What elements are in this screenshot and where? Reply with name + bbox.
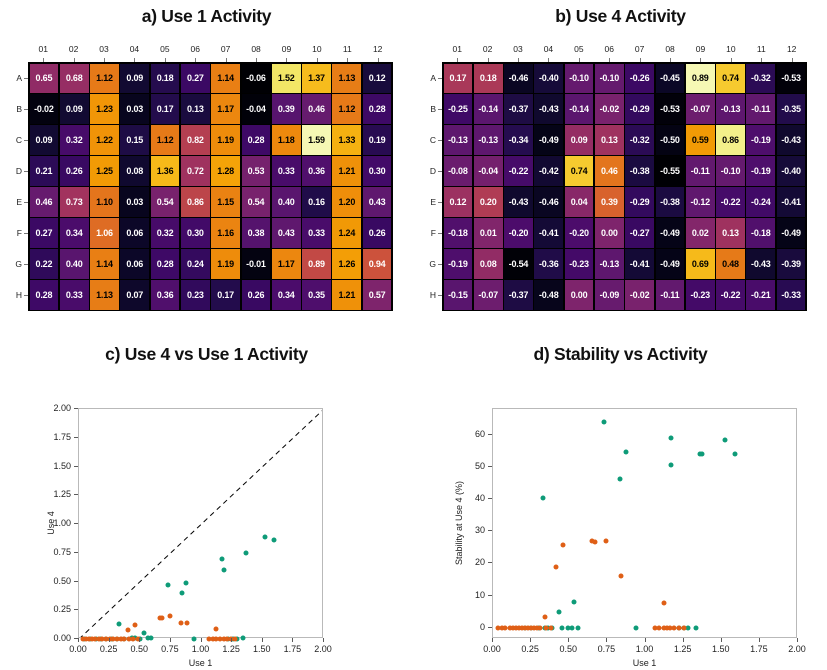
heatmap-cell: 1.21 — [332, 156, 361, 185]
heatmap-cell: 0.04 — [565, 187, 594, 216]
heatmap-row-label: E — [6, 187, 28, 218]
heatmap-cell: -0.41 — [777, 187, 806, 216]
heatmap-column-label: 08 — [241, 44, 271, 58]
heatmap-cell: 1.23 — [90, 94, 119, 123]
y-axis-tick-label: 40 — [475, 493, 485, 503]
heatmap-row-label: G — [420, 249, 442, 280]
x-axis-tick-label: 0.25 — [100, 644, 118, 654]
heatmap-cell: -0.14 — [474, 94, 503, 123]
heatmap-cell: -0.46 — [504, 64, 533, 93]
y-axis-tick — [488, 562, 492, 563]
heatmap-cell: 1.22 — [90, 125, 119, 154]
panel-c: c) Use 4 vs Use 1 Activity 0.000.250.500… — [0, 330, 413, 670]
y-axis-tick-label: 0.25 — [53, 604, 71, 614]
heatmap-cell: 0.57 — [363, 280, 392, 309]
scatter-point — [617, 477, 622, 482]
scatter-point — [722, 437, 727, 442]
heatmap-column-label: 09 — [271, 44, 301, 58]
x-axis-tick — [292, 638, 293, 642]
x-axis-tick-label: 1.50 — [253, 644, 271, 654]
heatmap-cell: 0.09 — [60, 94, 89, 123]
heatmap-cell: -0.41 — [534, 218, 563, 247]
heatmap-cell: -0.55 — [656, 156, 685, 185]
heatmap-cell: -0.36 — [534, 249, 563, 278]
heatmap-cell: -0.43 — [504, 187, 533, 216]
heatmap-row-label: B — [6, 93, 28, 124]
heatmap-cell: -0.37 — [504, 94, 533, 123]
heatmap-cell: -0.10 — [565, 64, 594, 93]
heatmap-cell: 0.13 — [716, 218, 745, 247]
heatmap-cell: -0.02 — [625, 280, 654, 309]
heatmap-column-label: 02 — [58, 44, 88, 58]
heatmap-cell: 0.86 — [716, 125, 745, 154]
heatmap-cell: 0.27 — [30, 218, 59, 247]
heatmap-cell: -0.18 — [746, 218, 775, 247]
heatmap-cell: -0.20 — [504, 218, 533, 247]
heatmap-cell: -0.23 — [565, 249, 594, 278]
heatmap-grid: 0.170.18-0.46-0.40-0.10-0.10-0.26-0.450.… — [442, 62, 807, 311]
heatmap-cell: -0.21 — [746, 280, 775, 309]
heatmap-cell: 1.20 — [332, 187, 361, 216]
heatmap-cell: -0.43 — [777, 125, 806, 154]
heatmap-cell: 0.18 — [151, 64, 180, 93]
scatter-point — [669, 436, 674, 441]
x-axis-tick — [231, 638, 232, 642]
heatmap-cell: 0.06 — [120, 218, 149, 247]
x-axis-tick-label: 0.75 — [161, 644, 179, 654]
heatmap-row-labels: ABCDEFGH — [6, 62, 28, 311]
scatter-point — [192, 636, 197, 641]
heatmap-cell: 0.28 — [151, 249, 180, 278]
identity-reference-line — [79, 409, 322, 637]
heatmap-cell: 0.06 — [120, 249, 149, 278]
y-axis-tick-label: 60 — [475, 429, 485, 439]
scatter-point — [603, 538, 608, 543]
heatmap-column-label: 07 — [210, 44, 240, 58]
x-axis-tick-label: 0.25 — [521, 644, 539, 654]
x-axis-tick-label: 1.25 — [222, 644, 240, 654]
heatmap-cell: -0.12 — [686, 187, 715, 216]
scatter-point — [184, 621, 189, 626]
heatmap-cell: 1.10 — [90, 187, 119, 216]
plot-area — [79, 409, 322, 637]
heatmap-cell: 0.65 — [30, 64, 59, 93]
panel-a: a) Use 1 Activity 0102030405060708091011… — [0, 0, 413, 330]
heatmap-a: 010203040506070809101112ABCDEFGH0.650.68… — [0, 0, 413, 330]
scatter-c: 0.000.250.500.751.001.251.501.752.000.00… — [0, 330, 413, 670]
heatmap-cell: 0.17 — [211, 280, 240, 309]
heatmap-cell: 1.25 — [90, 156, 119, 185]
y-axis-tick-label: 1.00 — [53, 518, 71, 528]
y-axis-tick-label: 2.00 — [53, 403, 71, 413]
plot-frame — [78, 408, 323, 638]
heatmap-column-label: 06 — [594, 44, 624, 58]
heatmap-cell: 0.34 — [60, 218, 89, 247]
heatmap-column-label: 07 — [624, 44, 654, 58]
heatmap-cell: -0.08 — [444, 156, 473, 185]
heatmap-column-label: 01 — [28, 44, 58, 58]
heatmap-cell: -0.09 — [595, 280, 624, 309]
x-axis-tick — [721, 638, 722, 642]
heatmap-cell: -0.39 — [777, 249, 806, 278]
scatter-point — [167, 614, 172, 619]
heatmap-cell: -0.20 — [565, 218, 594, 247]
x-axis-tick-label: 2.00 — [788, 644, 806, 654]
scatter-point — [126, 627, 131, 632]
heatmap-cell: -0.01 — [242, 249, 271, 278]
heatmap-cell: 1.17 — [272, 249, 301, 278]
heatmap-column-label: 05 — [564, 44, 594, 58]
heatmap-cell: -0.38 — [625, 156, 654, 185]
heatmap-column-label: 03 — [503, 44, 533, 58]
scatter-point — [570, 625, 575, 630]
heatmap-cell: -0.49 — [534, 125, 563, 154]
scatter-point — [241, 635, 246, 640]
heatmap-cell: 0.22 — [30, 249, 59, 278]
y-axis-tick — [488, 627, 492, 628]
heatmap-cell: -0.19 — [444, 249, 473, 278]
heatmap-cell: 1.19 — [211, 125, 240, 154]
y-axis-tick — [74, 581, 78, 582]
x-axis-tick — [530, 638, 531, 642]
heatmap-cell: -0.37 — [504, 280, 533, 309]
scatter-point — [669, 463, 674, 468]
x-axis-tick — [492, 638, 493, 642]
heatmap-cell: -0.49 — [777, 218, 806, 247]
y-axis-tick — [74, 552, 78, 553]
heatmap-row-label: A — [420, 62, 442, 93]
x-axis-tick — [568, 638, 569, 642]
heatmap-grid: 0.650.681.120.090.180.271.14-0.061.521.3… — [28, 62, 393, 311]
heatmap-column-label: 11 — [332, 44, 362, 58]
heatmap-cell: -0.11 — [686, 156, 715, 185]
heatmap-cell: -0.04 — [242, 94, 271, 123]
scatter-point — [561, 543, 566, 548]
heatmap-cell: 1.33 — [332, 125, 361, 154]
heatmap-cell: -0.48 — [534, 280, 563, 309]
heatmap-cell: 0.34 — [272, 280, 301, 309]
x-axis-tick — [139, 638, 140, 642]
heatmap-cell: 1.13 — [332, 64, 361, 93]
x-axis-tick — [262, 638, 263, 642]
scatter-point — [733, 452, 738, 457]
y-axis-tick-label: 1.75 — [53, 432, 71, 442]
heatmap-cell: 0.02 — [686, 218, 715, 247]
heatmap-column-label: 06 — [180, 44, 210, 58]
scatter-point — [214, 626, 219, 631]
y-axis-tick — [74, 609, 78, 610]
scatter-point — [699, 451, 704, 456]
scatter-point — [149, 636, 154, 641]
x-axis-tick-label: 0.00 — [69, 644, 87, 654]
heatmap-cell: 0.07 — [120, 280, 149, 309]
heatmap-cell: 0.08 — [474, 249, 503, 278]
heatmap-row-label: D — [420, 155, 442, 186]
scatter-point — [141, 630, 146, 635]
heatmap-cell: -0.38 — [656, 187, 685, 216]
heatmap-cell: -0.10 — [716, 156, 745, 185]
heatmap-cell: 0.26 — [60, 156, 89, 185]
plot-frame — [492, 408, 797, 638]
heatmap-cell: 0.59 — [686, 125, 715, 154]
heatmap-cell: 0.33 — [272, 156, 301, 185]
heatmap-cell: -0.25 — [444, 94, 473, 123]
scatter-point — [571, 600, 576, 605]
heatmap-cell: 0.43 — [272, 218, 301, 247]
heatmap-cell: 0.19 — [363, 125, 392, 154]
heatmap-cell: -0.53 — [777, 64, 806, 93]
heatmap-cell: -0.19 — [746, 125, 775, 154]
scatter-point — [556, 609, 561, 614]
heatmap-cell: 1.14 — [90, 249, 119, 278]
heatmap-cell: 0.73 — [60, 187, 89, 216]
heatmap-cell: -0.43 — [534, 94, 563, 123]
heatmap-cell: -0.13 — [716, 94, 745, 123]
x-axis-tick — [759, 638, 760, 642]
scatter-point — [243, 551, 248, 556]
heatmap-row-label: H — [420, 280, 442, 311]
heatmap-cell: 0.00 — [595, 218, 624, 247]
heatmap-row-label: A — [6, 62, 28, 93]
heatmap-cell: 1.18 — [272, 125, 301, 154]
heatmap-row-label: C — [420, 124, 442, 155]
heatmap-row-label: D — [6, 155, 28, 186]
heatmap-cell: 0.39 — [595, 187, 624, 216]
heatmap-column-label: 04 — [533, 44, 563, 58]
heatmap-row-label: C — [6, 124, 28, 155]
scatter-point — [693, 625, 698, 630]
heatmap-row-label: F — [6, 218, 28, 249]
heatmap-cell: 0.72 — [181, 156, 210, 185]
heatmap-row-label: E — [420, 187, 442, 218]
scatter-point — [117, 621, 122, 626]
scatter-point — [593, 540, 598, 545]
heatmap-cell: 0.08 — [120, 156, 149, 185]
heatmap-row-label: H — [6, 280, 28, 311]
heatmap-cell: -0.02 — [595, 94, 624, 123]
heatmap-cell: 1.59 — [302, 125, 331, 154]
heatmap-cell: 0.54 — [242, 187, 271, 216]
y-axis-tick-label: 0 — [480, 622, 485, 632]
heatmap-column-labels: 010203040506070809101112 — [28, 44, 393, 58]
x-axis-tick — [645, 638, 646, 642]
heatmap-cell: 0.74 — [716, 64, 745, 93]
heatmap-cell: 1.06 — [90, 218, 119, 247]
y-axis-tick — [488, 530, 492, 531]
heatmap-cell: -0.46 — [534, 187, 563, 216]
heatmap-cell: 1.52 — [272, 64, 301, 93]
scatter-point — [602, 419, 607, 424]
y-axis-tick — [74, 437, 78, 438]
heatmap-cell: 0.46 — [595, 156, 624, 185]
scatter-point — [686, 625, 691, 630]
heatmap-cell: -0.33 — [777, 280, 806, 309]
heatmap-column-label: 12 — [776, 44, 806, 58]
heatmap-cell: 1.19 — [211, 249, 240, 278]
x-axis-label: Use 1 — [633, 658, 657, 668]
heatmap-cell: 0.12 — [444, 187, 473, 216]
heatmap-cell: 0.33 — [60, 280, 89, 309]
x-axis-tick — [797, 638, 798, 642]
heatmap-cell: -0.32 — [625, 125, 654, 154]
heatmap-column-label: 08 — [655, 44, 685, 58]
x-axis-tick — [606, 638, 607, 642]
heatmap-cell: -0.40 — [777, 156, 806, 185]
heatmap-cell: 0.17 — [444, 64, 473, 93]
heatmap-cell: -0.43 — [746, 249, 775, 278]
scatter-point — [576, 625, 581, 630]
heatmap-cell: -0.40 — [534, 64, 563, 93]
heatmap-cell: -0.50 — [656, 125, 685, 154]
heatmap-cell: 1.28 — [211, 156, 240, 185]
scatter-point — [619, 573, 624, 578]
x-axis-tick — [109, 638, 110, 642]
heatmap-cell: -0.54 — [504, 249, 533, 278]
heatmap-cell: 0.33 — [302, 218, 331, 247]
heatmap-cell: 1.14 — [211, 64, 240, 93]
heatmap-cell: 0.09 — [120, 64, 149, 93]
x-axis-tick-label: 1.25 — [674, 644, 692, 654]
heatmap-cell: 0.13 — [181, 94, 210, 123]
x-axis-tick-label: 0.75 — [598, 644, 616, 654]
heatmap-row-label: F — [420, 218, 442, 249]
heatmap-cell: 0.74 — [565, 156, 594, 185]
heatmap-column-label: 10 — [302, 44, 332, 58]
heatmap-cell: -0.13 — [474, 125, 503, 154]
heatmap-cell: -0.24 — [746, 187, 775, 216]
heatmap-cell: 1.15 — [211, 187, 240, 216]
y-axis-tick-label: 50 — [475, 461, 485, 471]
panel-b: b) Use 4 Activity 0102030405060708091011… — [414, 0, 827, 330]
heatmap-column-label: 05 — [150, 44, 180, 58]
y-axis-label: Use 4 — [46, 511, 56, 535]
x-axis-tick — [170, 638, 171, 642]
heatmap-column-label: 09 — [685, 44, 715, 58]
y-axis-tick-label: 0.75 — [53, 547, 71, 557]
scatter-point — [183, 580, 188, 585]
heatmap-cell: 0.28 — [363, 94, 392, 123]
heatmap-cell: 0.38 — [242, 218, 271, 247]
x-axis-tick-label: 0.00 — [483, 644, 501, 654]
heatmap-row-label: G — [6, 249, 28, 280]
heatmap-cell: -0.23 — [686, 280, 715, 309]
heatmap-cell: -0.42 — [534, 156, 563, 185]
heatmap-column-label: 02 — [472, 44, 502, 58]
y-axis-tick-label: 20 — [475, 557, 485, 567]
heatmap-cell: 0.03 — [120, 94, 149, 123]
y-axis-tick — [74, 638, 78, 639]
scatter-point — [634, 625, 639, 630]
scatter-point — [553, 564, 558, 569]
scatter-point — [133, 623, 138, 628]
scatter-point — [263, 535, 268, 540]
heatmap-cell: 1.12 — [332, 94, 361, 123]
heatmap-cell: 1.37 — [302, 64, 331, 93]
heatmap-column-label: 01 — [442, 44, 472, 58]
heatmap-cell: -0.53 — [656, 94, 685, 123]
heatmap-cell: 0.28 — [30, 280, 59, 309]
heatmap-cell: -0.13 — [595, 249, 624, 278]
heatmap-cell: -0.34 — [504, 125, 533, 154]
heatmap-cell: 0.32 — [151, 218, 180, 247]
heatmap-cell: -0.27 — [625, 218, 654, 247]
heatmap-cell: 0.48 — [716, 249, 745, 278]
scatter-point — [661, 600, 666, 605]
x-axis-label: Use 1 — [189, 658, 213, 668]
scatter-point — [220, 557, 225, 562]
scatter-point — [559, 625, 564, 630]
heatmap-column-label: 03 — [89, 44, 119, 58]
heatmap-cell: 0.09 — [565, 125, 594, 154]
scatter-point — [538, 625, 543, 630]
heatmap-column-label: 12 — [362, 44, 392, 58]
x-axis-tick-label: 0.50 — [130, 644, 148, 654]
heatmap-cell: 1.26 — [332, 249, 361, 278]
heatmap-cell: 0.21 — [30, 156, 59, 185]
y-axis-tick — [488, 466, 492, 467]
heatmap-cell: 0.28 — [242, 125, 271, 154]
heatmap-cell: 0.24 — [181, 249, 210, 278]
x-axis-tick-label: 1.00 — [192, 644, 210, 654]
heatmap-cell: 0.00 — [565, 280, 594, 309]
scatter-point — [157, 616, 162, 621]
y-axis-tick-label: 30 — [475, 525, 485, 535]
heatmap-cell: 0.40 — [60, 249, 89, 278]
heatmap-cell: 1.21 — [332, 280, 361, 309]
x-axis-tick-label: 1.75 — [284, 644, 302, 654]
heatmap-cell: 0.36 — [302, 156, 331, 185]
heatmap-cell: 0.26 — [242, 280, 271, 309]
heatmap-cell: -0.14 — [565, 94, 594, 123]
x-axis-tick-label: 1.50 — [712, 644, 730, 654]
heatmap-cell: 1.13 — [90, 280, 119, 309]
heatmap-cell: -0.49 — [656, 249, 685, 278]
heatmap-cell: 0.27 — [181, 64, 210, 93]
y-axis-tick-label: 0.00 — [53, 633, 71, 643]
heatmap-cell: 0.86 — [181, 187, 210, 216]
heatmap-cell: 0.18 — [474, 64, 503, 93]
x-axis-tick — [683, 638, 684, 642]
scatter-point — [541, 496, 546, 501]
heatmap-cell: 0.30 — [363, 156, 392, 185]
heatmap-cell: -0.04 — [474, 156, 503, 185]
heatmap-cell: 0.69 — [686, 249, 715, 278]
heatmap-cell: 0.89 — [302, 249, 331, 278]
heatmap-cell: 0.39 — [272, 94, 301, 123]
heatmap-column-labels: 010203040506070809101112 — [442, 44, 807, 58]
y-axis-tick — [488, 595, 492, 596]
heatmap-cell: -0.26 — [625, 64, 654, 93]
heatmap-cell: 0.53 — [242, 156, 271, 185]
scatter-point — [623, 450, 628, 455]
heatmap-row-labels: ABCDEFGH — [420, 62, 442, 311]
y-axis-tick — [74, 523, 78, 524]
x-axis-tick-label: 1.75 — [750, 644, 768, 654]
heatmap-cell: 1.12 — [151, 125, 180, 154]
heatmap-cell: 0.46 — [30, 187, 59, 216]
y-axis-label: Stability at Use 4 (%) — [454, 481, 464, 565]
heatmap-cell: 0.16 — [302, 187, 331, 216]
x-axis-tick — [323, 638, 324, 642]
heatmap-cell: -0.45 — [656, 64, 685, 93]
heatmap-cell: -0.19 — [746, 156, 775, 185]
heatmap-cell: -0.02 — [30, 94, 59, 123]
y-axis-tick — [74, 494, 78, 495]
heatmap-cell: 0.20 — [474, 187, 503, 216]
heatmap-cell: 0.94 — [363, 249, 392, 278]
heatmap-cell: 0.15 — [120, 125, 149, 154]
heatmap-cell: 1.16 — [211, 218, 240, 247]
